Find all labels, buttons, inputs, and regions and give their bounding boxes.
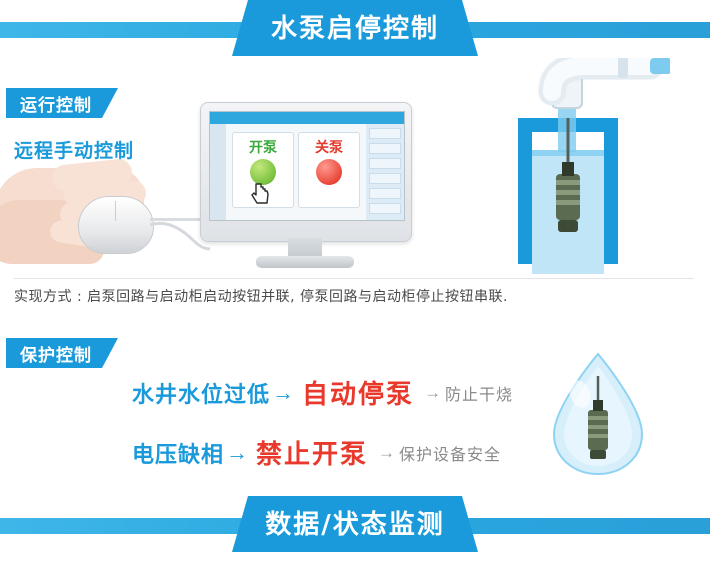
bottom-banner: 数据/状态监测	[0, 496, 710, 558]
screen-app-header	[210, 112, 404, 124]
screen-sidebar	[210, 124, 226, 220]
hand-pointer-svg	[250, 182, 272, 206]
computer-mouse-icon	[78, 196, 154, 254]
screen-list-item	[369, 128, 401, 139]
protect-control-tag-label: 保护控制	[20, 341, 92, 366]
arrow-right-icon: →	[272, 380, 294, 406]
monitor-screen: 开泵 关泵	[209, 111, 405, 221]
screen-list-item	[369, 173, 401, 184]
protection-condition: 电压缺相	[132, 437, 224, 469]
protection-result: 防止干烧	[445, 381, 513, 405]
hand-pointer-icon	[250, 182, 272, 206]
protection-row: 电压缺相 → 禁止开泵 → 保护设备安全	[132, 434, 501, 471]
droplet-svg	[546, 350, 650, 478]
top-banner-title: 水泵启停控制	[271, 8, 439, 45]
protection-result: 保护设备安全	[399, 441, 501, 465]
bottom-banner-title: 数据/状态监测	[265, 504, 445, 541]
screen-list-item	[369, 203, 401, 214]
run-control-tag-label: 运行控制	[20, 91, 92, 116]
protect-control-tag: 保护控制	[6, 338, 118, 368]
protection-action: 自动停泵	[302, 374, 414, 411]
water-droplet-icon	[546, 350, 650, 478]
screen-list-item	[369, 188, 401, 199]
protection-condition: 水井水位过低	[132, 377, 270, 409]
well-svg	[500, 58, 670, 274]
screen-main-panel: 开泵 关泵	[226, 124, 366, 220]
stop-pump-button[interactable]: 关泵	[298, 132, 360, 208]
implementation-note: 实现方式 : 启泵回路与启动柜启动按钮并联, 停泵回路与启动柜停止按钮串联.	[14, 286, 694, 306]
mouse-seam	[115, 201, 116, 221]
arrow-right-icon: →	[226, 440, 248, 466]
water-well-pump-icon	[500, 58, 670, 274]
arrow-right-icon: →	[424, 383, 441, 403]
screen-right-panel	[366, 124, 404, 220]
screen-list-item	[369, 158, 401, 169]
monitor-bezel: 开泵 关泵	[200, 102, 412, 242]
top-banner: 水泵启停控制	[0, 0, 710, 62]
infographic-page: 水泵启停控制 运行控制 远程手动控制 开泵	[0, 0, 710, 564]
note-divider	[14, 278, 694, 279]
run-control-tag: 运行控制	[6, 88, 118, 118]
mouse-cord-icon	[150, 218, 206, 251]
monitor-base	[256, 256, 354, 268]
monitor-illustration: 开泵 关泵	[200, 102, 410, 268]
top-banner-tab: 水泵启停控制	[232, 0, 478, 56]
protection-row: 水井水位过低 → 自动停泵 → 防止干烧	[132, 374, 513, 411]
stop-pump-label: 关泵	[299, 137, 359, 157]
protection-action: 禁止开泵	[256, 434, 368, 471]
screen-list-item	[369, 143, 401, 154]
arrow-right-icon: →	[378, 443, 395, 463]
start-pump-label: 开泵	[233, 137, 293, 157]
red-indicator-icon	[316, 159, 342, 185]
bottom-banner-tab: 数据/状态监测	[232, 496, 478, 552]
